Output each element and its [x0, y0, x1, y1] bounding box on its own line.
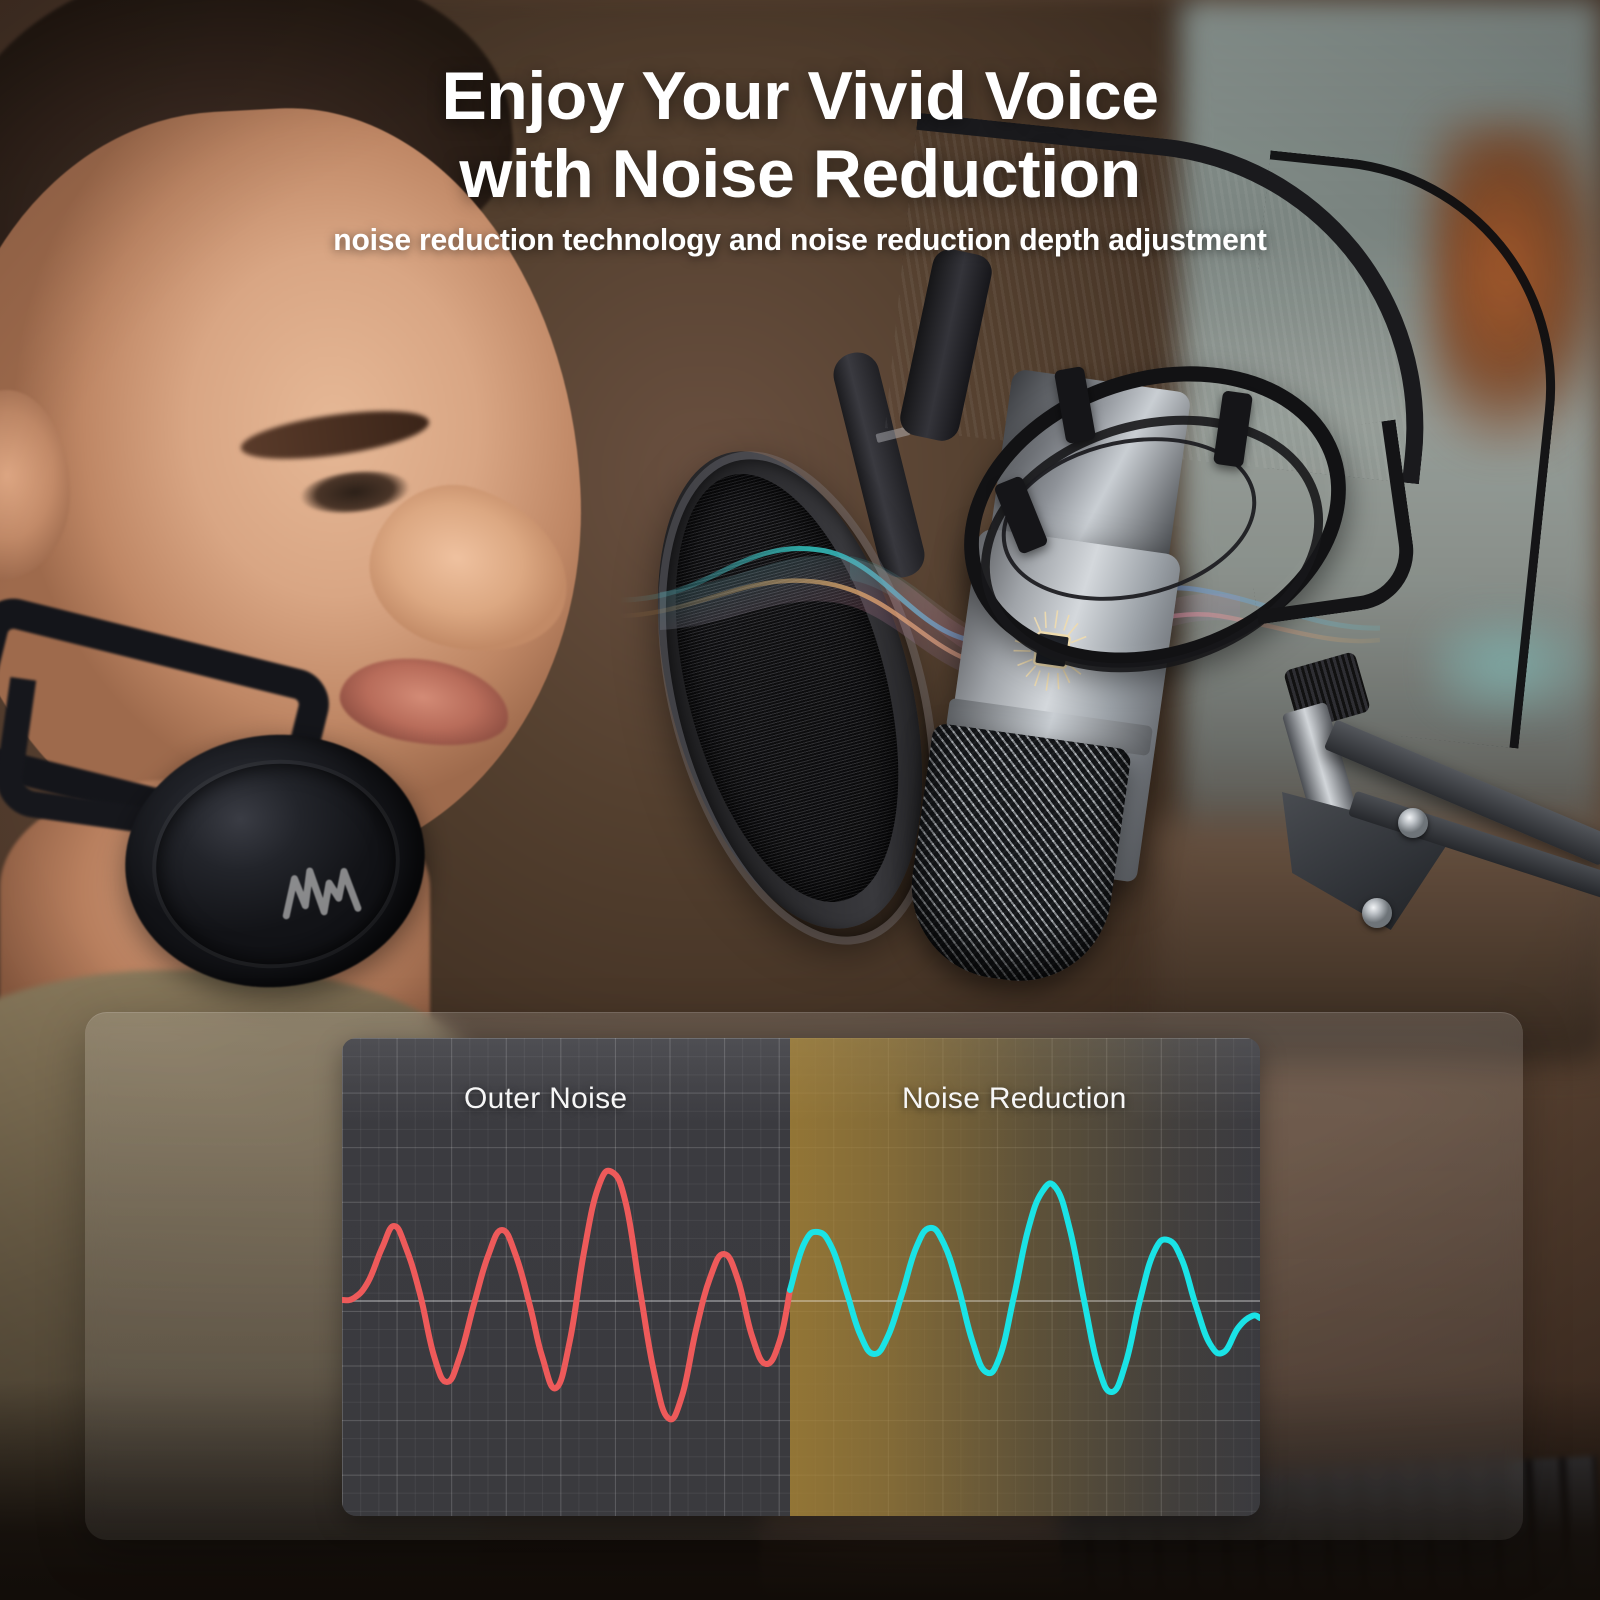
page-subtitle: noise reduction technology and noise red… [24, 222, 1576, 258]
noise-comparison-chart: Outer Noise Noise Reduction [342, 1038, 1260, 1516]
waveform-noise-reduction [790, 1183, 1260, 1392]
chart-label-noise-reduction: Noise Reduction [902, 1082, 1127, 1116]
headline-line-2: with Noise Reduction [0, 140, 1600, 208]
page-title: Enjoy Your Vivid Voice with Noise Reduct… [0, 62, 1600, 208]
chart-label-outer-noise: Outer Noise [464, 1082, 627, 1116]
product-marketing-image: Enjoy Your Vivid Voice with Noise Reduct… [0, 0, 1600, 1600]
headline-line-1: Enjoy Your Vivid Voice [441, 58, 1158, 134]
waveform-outer-noise [342, 1171, 790, 1420]
